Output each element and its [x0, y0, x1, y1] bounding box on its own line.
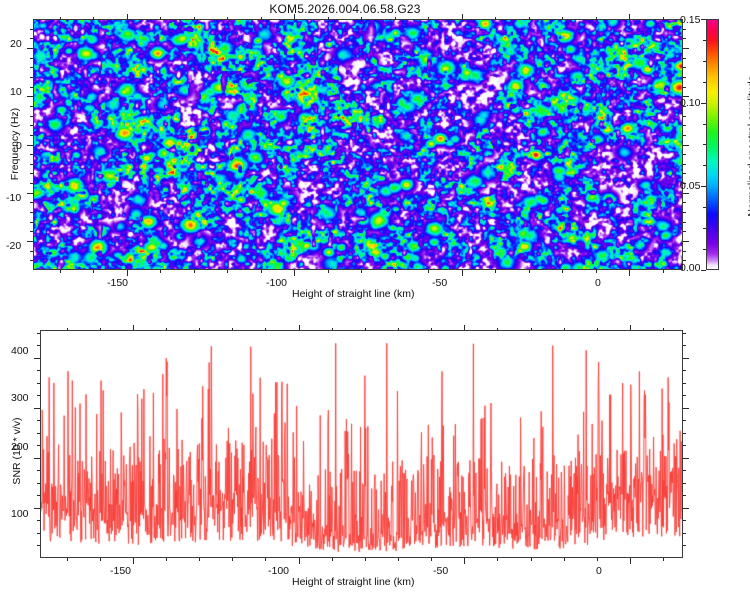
figure-root: KOM5.2026.004.06.58.G23 20 10 0 -10 -20 … — [0, 0, 750, 600]
cbar-tick-010: 0.10 — [680, 97, 700, 109]
p1-xtick-0: 0 — [595, 277, 601, 289]
colorbar-title: Normalized spectral amplitude — [746, 61, 750, 231]
spectrogram-panel — [33, 19, 683, 270]
cbar-tick-000: 0.00 — [680, 262, 700, 274]
p2-ytick-100: 100 — [11, 508, 29, 520]
p1-xtick-m50: -50 — [432, 277, 447, 289]
p1-ytick-20: 20 — [10, 38, 22, 50]
p1-xtick-m100: -100 — [266, 277, 287, 289]
p2-xtick-m50: -50 — [433, 565, 448, 577]
colorbar — [706, 19, 719, 270]
cbar-tick-015: 0.15 — [680, 14, 700, 26]
p1-xtick-m150: -150 — [107, 277, 128, 289]
p2-xtick-m100: -100 — [268, 565, 289, 577]
p1-ytick-m20: -20 — [6, 240, 21, 252]
p1-yaxis-title: Frequency (Hz) — [9, 94, 21, 194]
p2-ytick-400: 400 — [11, 345, 29, 357]
p2-xaxis-title: Height of straight line (km) — [292, 576, 415, 588]
snr-trace — [41, 331, 683, 558]
spectrogram-image — [34, 20, 683, 270]
p2-xtick-0: 0 — [596, 565, 602, 577]
p2-xtick-m150: -150 — [110, 565, 131, 577]
cbar-tick-005: 0.05 — [680, 180, 700, 192]
p1-xaxis-title: Height of straight line (km) — [292, 288, 415, 300]
p2-yaxis-title: SNR (10 * v/v) — [11, 401, 23, 501]
snr-panel — [40, 330, 683, 558]
figure-title: KOM5.2026.004.06.58.G23 — [0, 2, 690, 16]
